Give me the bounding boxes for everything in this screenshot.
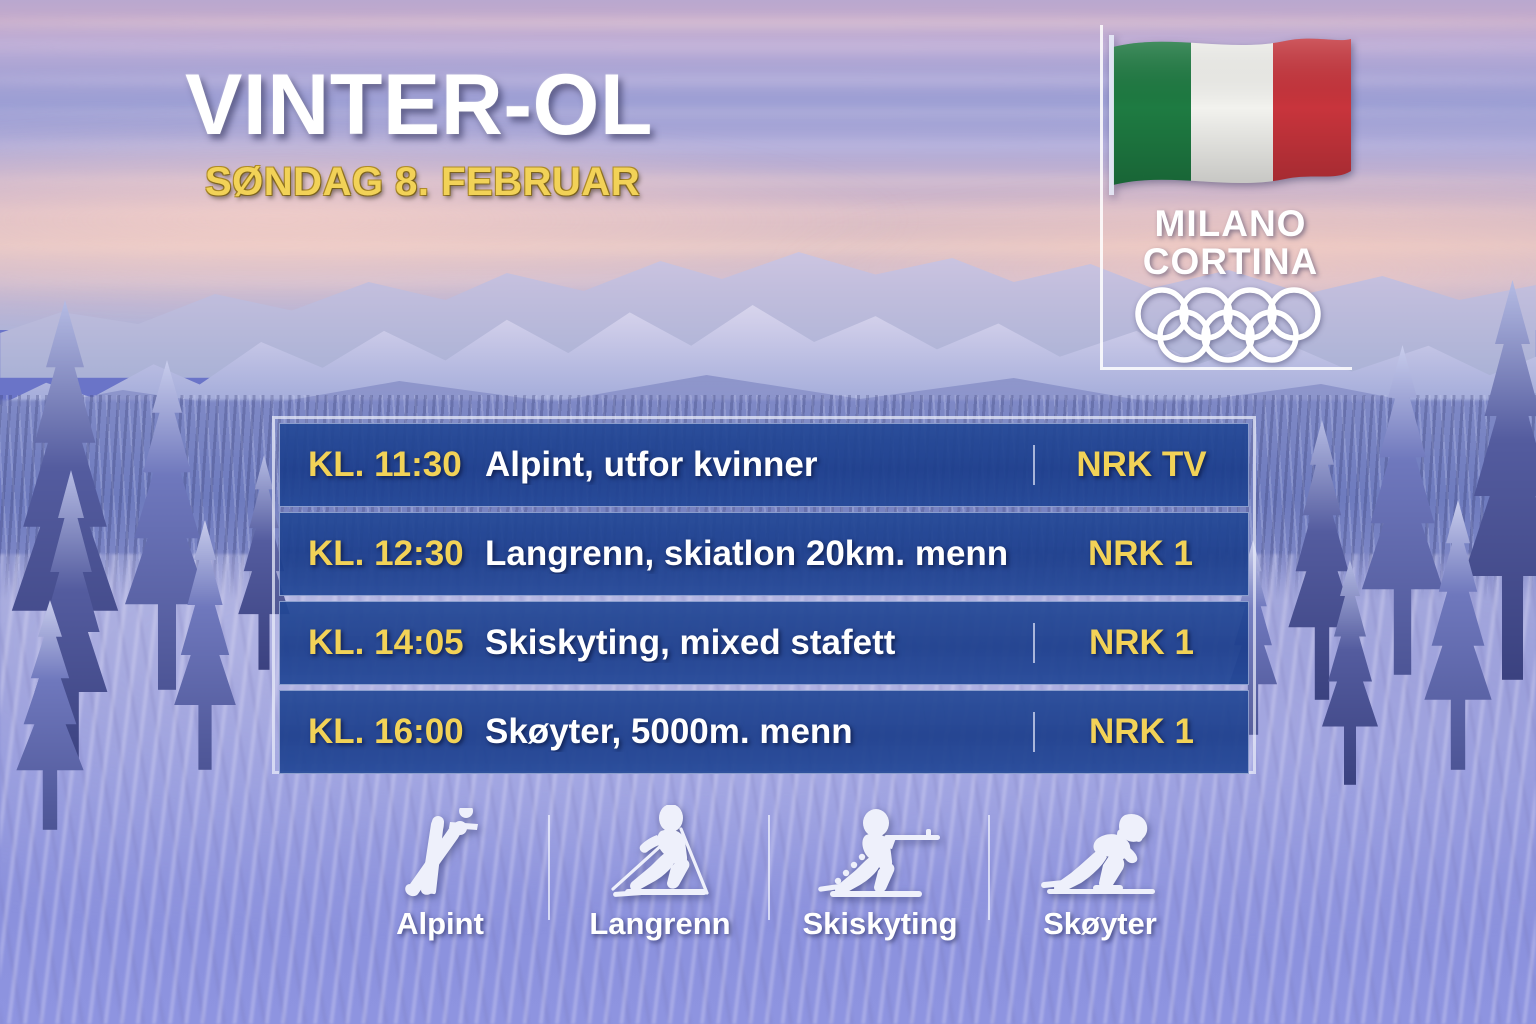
- sport-item-alpint[interactable]: Alpint: [330, 805, 550, 942]
- sport-label: Langrenn: [589, 906, 730, 942]
- biathlete-icon: [814, 805, 946, 900]
- date-subtitle: SØNDAG 8. FEBRUAR: [205, 160, 653, 205]
- row-channel[interactable]: NRK 1: [1033, 712, 1248, 752]
- sport-label: Alpint: [396, 906, 484, 942]
- row-event: Alpint, utfor kvinner: [485, 445, 1033, 485]
- row-time: KL. 12:30: [280, 534, 485, 574]
- sport-label: Skøyter: [1043, 906, 1157, 942]
- table-row[interactable]: KL. 16:00 Skøyter, 5000m. menn NRK 1: [279, 690, 1249, 774]
- logo-line-milano: MILANO: [1103, 205, 1358, 243]
- sport-item-skiskyting[interactable]: Skiskyting: [770, 805, 990, 942]
- row-event: Skøyter, 5000m. menn: [485, 712, 1033, 752]
- table-row[interactable]: KL. 14:05 Skiskyting, mixed stafett NRK …: [279, 601, 1249, 685]
- table-row[interactable]: KL. 12:30 Langrenn, skiatlon 20km. menn …: [279, 512, 1249, 596]
- speed-skater-icon: [1037, 805, 1163, 900]
- logo-line-cortina: CORTINA: [1103, 243, 1358, 281]
- sport-icon-bar: Alpint Langrenn: [330, 792, 1210, 942]
- sport-item-langrenn[interactable]: Langrenn: [550, 805, 770, 942]
- row-channel[interactable]: NRK 1: [1033, 623, 1248, 663]
- table-row[interactable]: KL. 11:30 Alpint, utfor kvinner NRK TV: [279, 423, 1249, 507]
- italy-flag-icon: [1109, 31, 1355, 201]
- row-time: KL. 16:00: [280, 712, 485, 752]
- olympic-rings-icon: [1133, 287, 1331, 363]
- sport-label: Skiskyting: [802, 906, 957, 942]
- sport-item-skoyter[interactable]: Skøyter: [990, 805, 1210, 942]
- row-event: Langrenn, skiatlon 20km. menn: [485, 534, 1033, 574]
- row-time: KL. 14:05: [280, 623, 485, 663]
- row-channel[interactable]: NRK 1: [1033, 534, 1248, 574]
- page-title: VINTER-OL: [185, 62, 653, 148]
- row-time: KL. 11:30: [280, 445, 485, 485]
- cross-country-skier-icon: [595, 805, 725, 900]
- schedule-table: KL. 11:30 Alpint, utfor kvinner NRK TV K…: [272, 416, 1256, 774]
- alpine-skis-icon: [390, 805, 490, 900]
- headline-block: VINTER-OL SØNDAG 8. FEBRUAR: [185, 62, 653, 205]
- logo-wordmark: MILANO CORTINA: [1103, 205, 1358, 280]
- row-channel[interactable]: NRK TV: [1033, 445, 1248, 485]
- milano-cortina-logo: MILANO CORTINA: [1100, 25, 1352, 370]
- row-event: Skiskyting, mixed stafett: [485, 623, 1033, 663]
